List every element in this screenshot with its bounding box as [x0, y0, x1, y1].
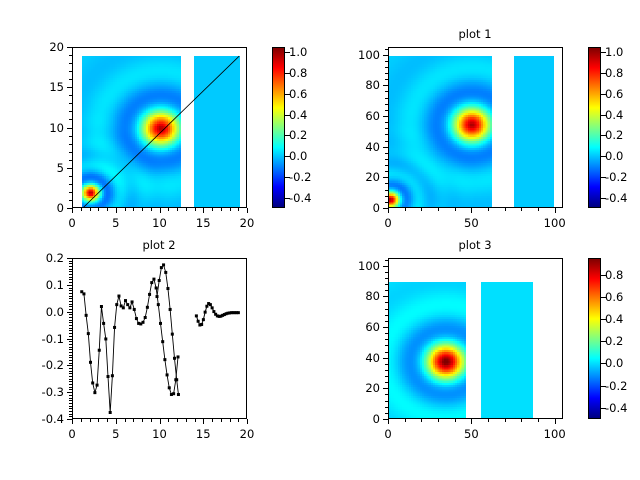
colorbar-tick-label: -0.2: [289, 170, 311, 184]
ytick-minor: [385, 55, 388, 56]
ytick-minor: [69, 379, 72, 380]
ytick-minor: [385, 122, 388, 123]
data-point-marker: [161, 340, 164, 343]
ytick-minor: [69, 357, 72, 358]
ytick-minor: [69, 387, 72, 388]
ytick-minor: [69, 168, 72, 169]
data-point-marker: [117, 295, 120, 298]
xtick-minor: [133, 419, 134, 422]
ytick-minor: [385, 388, 388, 389]
ytick-minor: [385, 419, 388, 420]
xtick-minor: [107, 208, 108, 211]
xtick-minor: [505, 208, 506, 211]
ytick-minor: [385, 315, 388, 316]
overlay-line-diagonal: [73, 48, 247, 208]
xtick-label: 100: [544, 216, 566, 230]
ytick-minor: [69, 365, 72, 366]
axes-plot1: [388, 47, 563, 208]
ytick-minor: [69, 119, 72, 120]
ytick-minor: [69, 392, 72, 393]
ytick-minor: [69, 269, 72, 270]
data-point-marker: [82, 292, 85, 295]
ytick-minor: [69, 290, 72, 291]
xtick-minor: [160, 419, 161, 422]
ytick-minor: [385, 278, 388, 279]
ytick-minor: [69, 288, 72, 289]
colorbar-gradient: [273, 48, 284, 207]
ytick-minor: [69, 384, 72, 385]
data-point-marker: [175, 378, 178, 381]
xtick-minor: [438, 208, 439, 211]
data-point-marker: [128, 306, 131, 309]
data-point-marker: [96, 384, 99, 387]
data-point-marker: [211, 306, 214, 309]
data-point-marker: [104, 337, 107, 340]
ytick-minor: [69, 363, 72, 364]
ytick-minor: [69, 333, 72, 334]
ytick-label: 0: [373, 412, 380, 426]
xtick-minor: [116, 208, 117, 211]
ytick-minor: [385, 196, 388, 197]
ytick-label: 0.2: [46, 251, 64, 265]
data-point-marker: [205, 305, 208, 308]
ytick-minor: [69, 389, 72, 390]
colorbar-tick-label: 0.8: [605, 268, 623, 282]
ytick-minor: [69, 419, 72, 420]
data-point-marker: [150, 281, 153, 284]
xtick-minor: [488, 208, 489, 211]
ytick-minor: [69, 341, 72, 342]
ytick-label: -0.2: [42, 358, 64, 372]
ytick-label: 0.1: [46, 278, 64, 292]
ytick-label: 0: [57, 201, 64, 215]
colorbar-plot0: [272, 47, 285, 208]
ytick-minor: [69, 184, 72, 185]
heatmap-image-1: [481, 282, 533, 419]
data-point-marker: [200, 323, 203, 326]
ytick-minor: [385, 73, 388, 74]
ytick-minor: [69, 258, 72, 259]
xtick-minor: [203, 208, 204, 211]
data-point-marker: [135, 317, 138, 320]
ytick-minor: [69, 371, 72, 372]
xtick-minor: [471, 208, 472, 211]
ytick-minor: [385, 413, 388, 414]
xtick-minor: [388, 208, 389, 211]
xtick-minor: [72, 419, 73, 422]
data-point-marker: [173, 357, 176, 360]
ytick-minor: [69, 95, 72, 96]
colorbar-gradient: [589, 48, 600, 207]
ytick-minor: [385, 147, 388, 148]
ytick-minor: [385, 364, 388, 365]
ytick-minor: [385, 382, 388, 383]
xtick-minor: [203, 419, 204, 422]
xtick-minor: [186, 419, 187, 422]
ytick-label: 10: [49, 121, 64, 135]
xtick-minor: [168, 208, 169, 211]
ytick-minor: [69, 296, 72, 297]
data-point-marker: [98, 349, 101, 352]
line-segment-c-dense: [196, 304, 238, 325]
ytick-label: 80: [365, 289, 380, 303]
heatmap-image-0: [389, 56, 492, 208]
data-point-marker: [100, 305, 103, 308]
ytick-minor: [69, 414, 72, 415]
ytick-minor: [385, 159, 388, 160]
data-point-marker: [168, 386, 171, 389]
xtick-minor: [438, 419, 439, 422]
ytick-minor: [385, 352, 388, 353]
data-point-marker: [209, 303, 212, 306]
ytick-minor: [385, 370, 388, 371]
ytick-minor: [69, 403, 72, 404]
xtick-minor: [98, 419, 99, 422]
xtick-minor: [471, 419, 472, 422]
ytick-minor: [385, 183, 388, 184]
ytick-minor: [69, 263, 72, 264]
ytick-minor: [69, 293, 72, 294]
ytick-minor: [385, 91, 388, 92]
ytick-minor: [69, 271, 72, 272]
colorbar-tick-label: 0.6: [605, 87, 623, 101]
data-point-marker: [197, 320, 200, 323]
colorbar-tick-label: 0.8: [605, 66, 623, 80]
ytick-minor: [69, 192, 72, 193]
xtick-minor: [90, 419, 91, 422]
xtick-minor: [405, 208, 406, 211]
xtick-minor: [455, 419, 456, 422]
ytick-minor: [385, 407, 388, 408]
xtick-minor: [81, 419, 82, 422]
ytick-minor: [69, 282, 72, 283]
ytick-minor: [385, 177, 388, 178]
xtick-label: 5: [112, 427, 119, 441]
ytick-minor: [385, 134, 388, 135]
data-point-marker: [87, 332, 90, 335]
ytick-minor: [69, 400, 72, 401]
ytick-minor: [69, 55, 72, 56]
ytick-minor: [69, 320, 72, 321]
ytick-minor: [385, 110, 388, 111]
colorbar-tick-label: -0.2: [605, 379, 627, 393]
ytick-label: 40: [365, 140, 380, 154]
ytick-minor: [69, 266, 72, 267]
data-point-marker: [202, 318, 205, 321]
data-point-marker: [156, 295, 159, 298]
xtick-minor: [133, 208, 134, 211]
panel-title-plot2: plot 2: [142, 238, 175, 252]
data-point-marker: [157, 303, 160, 306]
xtick-minor: [247, 208, 248, 211]
colorbar-tick-label: 0.6: [605, 290, 623, 304]
ytick-minor: [385, 98, 388, 99]
ytick-label: 5: [57, 161, 64, 175]
ytick-minor: [385, 165, 388, 166]
xtick-minor: [221, 419, 222, 422]
data-point-marker: [158, 279, 161, 282]
xtick-minor: [160, 208, 161, 211]
ytick-minor: [385, 321, 388, 322]
ytick-minor: [69, 279, 72, 280]
xtick-label: 15: [196, 427, 211, 441]
xtick-label: 0: [384, 427, 391, 441]
data-point-marker: [124, 299, 127, 302]
data-point-marker: [89, 361, 92, 364]
xtick-minor: [521, 208, 522, 211]
ytick-minor: [69, 152, 72, 153]
data-point-marker: [102, 322, 105, 325]
xtick-minor: [81, 208, 82, 211]
xtick-minor: [177, 208, 178, 211]
ytick-label: 60: [365, 109, 380, 123]
ytick-label: 15: [49, 80, 64, 94]
ytick-minor: [69, 349, 72, 350]
ytick-minor: [69, 176, 72, 177]
colorbar-tick-label: 0.2: [605, 128, 623, 142]
xtick-minor: [405, 419, 406, 422]
ytick-minor: [69, 395, 72, 396]
data-point-marker: [115, 303, 118, 306]
ytick-label: 0: [373, 201, 380, 215]
ytick-minor: [69, 406, 72, 407]
ytick-minor: [385, 202, 388, 203]
xtick-minor: [195, 208, 196, 211]
ytick-minor: [69, 328, 72, 329]
ytick-minor: [385, 266, 388, 267]
ytick-minor: [385, 401, 388, 402]
colorbar-tick-label: -0.2: [605, 170, 627, 184]
ytick-minor: [69, 330, 72, 331]
ytick-label: -0.1: [42, 332, 64, 346]
data-point-marker: [148, 293, 151, 296]
ytick-minor: [69, 87, 72, 88]
ytick-label: 80: [365, 78, 380, 92]
xtick-minor: [98, 208, 99, 211]
xtick-minor: [488, 419, 489, 422]
data-point-marker: [163, 358, 166, 361]
colorbar-tick-label: 0.4: [605, 108, 623, 122]
ytick-minor: [69, 336, 72, 337]
data-point-marker: [91, 381, 94, 384]
colorbar-tick-label: 1.0: [289, 45, 307, 59]
xtick-minor: [247, 419, 248, 422]
figure-canvas: 05101520051015201.00.80.60.40.20.0-0.2-0…: [0, 0, 640, 480]
xtick-minor: [125, 419, 126, 422]
data-point-marker: [113, 326, 116, 329]
ytick-minor: [385, 272, 388, 273]
xtick-minor: [107, 419, 108, 422]
xtick-label: 0: [384, 216, 391, 230]
xtick-label: 0: [68, 427, 75, 441]
axes-plot2: [72, 258, 247, 419]
xtick-minor: [195, 419, 196, 422]
colorbar-tick-label: 0.0: [605, 356, 623, 370]
ytick-minor: [385, 260, 388, 261]
xtick-minor: [505, 419, 506, 422]
data-point-marker: [177, 393, 180, 396]
ytick-minor: [69, 373, 72, 374]
ytick-minor: [69, 79, 72, 80]
ytick-label: 60: [365, 320, 380, 334]
ytick-minor: [385, 284, 388, 285]
ytick-minor: [69, 274, 72, 275]
colorbar-tick-label: 1.0: [605, 45, 623, 59]
ytick-minor: [385, 339, 388, 340]
ytick-label: 20: [49, 40, 64, 54]
xtick-minor: [151, 419, 152, 422]
data-point-marker: [107, 375, 110, 378]
xtick-label: 20: [240, 216, 255, 230]
ytick-minor: [69, 285, 72, 286]
ytick-minor: [69, 298, 72, 299]
ytick-minor: [385, 376, 388, 377]
ytick-minor: [69, 411, 72, 412]
ytick-minor: [69, 416, 72, 417]
ytick-minor: [69, 408, 72, 409]
data-point-marker: [212, 310, 215, 313]
colorbar-gradient: [589, 259, 600, 418]
ytick-minor: [69, 144, 72, 145]
xtick-minor: [230, 208, 231, 211]
ytick-minor: [69, 344, 72, 345]
line-series-group: [73, 259, 247, 419]
ytick-minor: [69, 352, 72, 353]
xtick-minor: [555, 419, 556, 422]
xtick-label: 10: [152, 216, 167, 230]
ytick-minor: [69, 63, 72, 64]
colorbar-plot3: [588, 258, 601, 419]
ytick-minor: [69, 277, 72, 278]
xtick-label: 50: [464, 427, 479, 441]
ytick-minor: [385, 49, 388, 50]
xtick-minor: [221, 208, 222, 211]
ytick-minor: [385, 141, 388, 142]
ytick-minor: [69, 103, 72, 104]
xtick-label: 50: [464, 216, 479, 230]
xtick-label: 15: [196, 216, 211, 230]
ytick-minor: [385, 358, 388, 359]
colorbar-tick-label: 0.8: [289, 66, 307, 80]
ytick-minor: [385, 61, 388, 62]
ytick-label: 20: [365, 381, 380, 395]
ytick-label: 0.0: [46, 305, 64, 319]
xtick-minor: [151, 208, 152, 211]
xtick-label: 20: [240, 427, 255, 441]
ytick-minor: [69, 339, 72, 340]
ytick-minor: [385, 394, 388, 395]
ytick-minor: [385, 345, 388, 346]
ytick-minor: [385, 296, 388, 297]
panel-title-plot1: plot 1: [458, 27, 491, 41]
ytick-minor: [385, 128, 388, 129]
data-point-marker: [195, 314, 198, 317]
ytick-minor: [69, 355, 72, 356]
colorbar-tick-label: 0.6: [289, 87, 307, 101]
colorbar-tick-label: -0.4: [605, 191, 627, 205]
xtick-minor: [142, 208, 143, 211]
heatmap-image-1: [514, 56, 554, 208]
ytick-minor: [69, 347, 72, 348]
ytick-label: 100: [358, 259, 380, 273]
ytick-minor: [69, 306, 72, 307]
data-point-marker: [126, 303, 129, 306]
data-point-marker: [109, 411, 112, 414]
ytick-minor: [385, 171, 388, 172]
ytick-minor: [69, 71, 72, 72]
data-point-marker: [177, 355, 180, 358]
ytick-minor: [385, 85, 388, 86]
ytick-minor: [69, 325, 72, 326]
ytick-minor: [69, 304, 72, 305]
xtick-minor: [538, 208, 539, 211]
ytick-label: 20: [365, 170, 380, 184]
ytick-minor: [69, 128, 72, 129]
ytick-minor: [69, 136, 72, 137]
ytick-minor: [69, 360, 72, 361]
ytick-minor: [385, 116, 388, 117]
ytick-minor: [385, 190, 388, 191]
ytick-minor: [385, 309, 388, 310]
xtick-minor: [455, 208, 456, 211]
xtick-minor: [142, 419, 143, 422]
ytick-minor: [69, 312, 72, 313]
ytick-minor: [69, 317, 72, 318]
xtick-label: 0: [68, 216, 75, 230]
xtick-minor: [555, 208, 556, 211]
xtick-minor: [72, 208, 73, 211]
ytick-label: 100: [358, 48, 380, 62]
data-point-marker: [152, 278, 155, 281]
data-point-marker: [146, 306, 149, 309]
ytick-minor: [385, 208, 388, 209]
axes-plot3: [388, 258, 563, 419]
panel-title-plot3: plot 3: [458, 238, 491, 252]
xtick-minor: [421, 419, 422, 422]
xtick-minor: [116, 419, 117, 422]
xtick-minor: [230, 419, 231, 422]
ytick-minor: [69, 47, 72, 48]
xtick-minor: [125, 208, 126, 211]
data-point-marker: [85, 314, 88, 317]
data-point-marker: [172, 392, 175, 395]
data-point-marker: [204, 311, 207, 314]
data-point-marker: [162, 263, 165, 266]
ytick-minor: [69, 368, 72, 369]
xtick-minor: [186, 208, 187, 211]
ytick-minor: [385, 79, 388, 80]
ytick-label: 40: [365, 351, 380, 365]
data-point-marker: [237, 311, 240, 314]
ytick-minor: [69, 111, 72, 112]
ytick-minor: [385, 290, 388, 291]
ytick-minor: [69, 381, 72, 382]
xtick-minor: [177, 419, 178, 422]
xtick-minor: [168, 419, 169, 422]
xtick-minor: [521, 419, 522, 422]
ytick-label: -0.3: [42, 385, 64, 399]
data-point-marker: [171, 333, 174, 336]
colorbar-tick-label: 0.2: [605, 334, 623, 348]
colorbar-tick-label: 0.4: [289, 108, 307, 122]
xtick-minor: [90, 208, 91, 211]
colorbar-tick-label: -0.4: [289, 191, 311, 205]
ytick-minor: [69, 261, 72, 262]
ytick-minor: [385, 327, 388, 328]
ytick-minor: [69, 160, 72, 161]
xtick-minor: [388, 419, 389, 422]
ytick-minor: [385, 333, 388, 334]
